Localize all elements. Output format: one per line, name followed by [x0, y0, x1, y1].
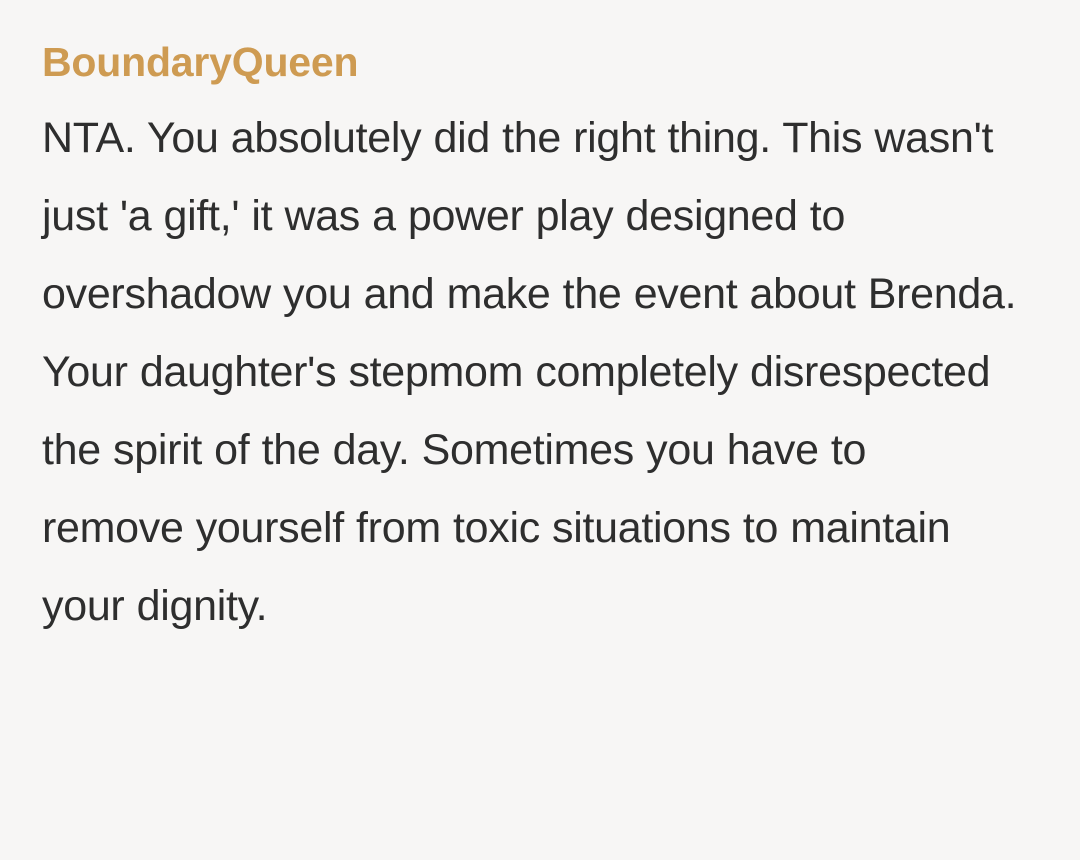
comment-body-text: NTA. You absolutely did the right thing.…	[42, 99, 1017, 645]
comment-card: BoundaryQueen NTA. You absolutely did th…	[0, 0, 1080, 860]
comment-author-name[interactable]: BoundaryQueen	[42, 40, 1040, 85]
